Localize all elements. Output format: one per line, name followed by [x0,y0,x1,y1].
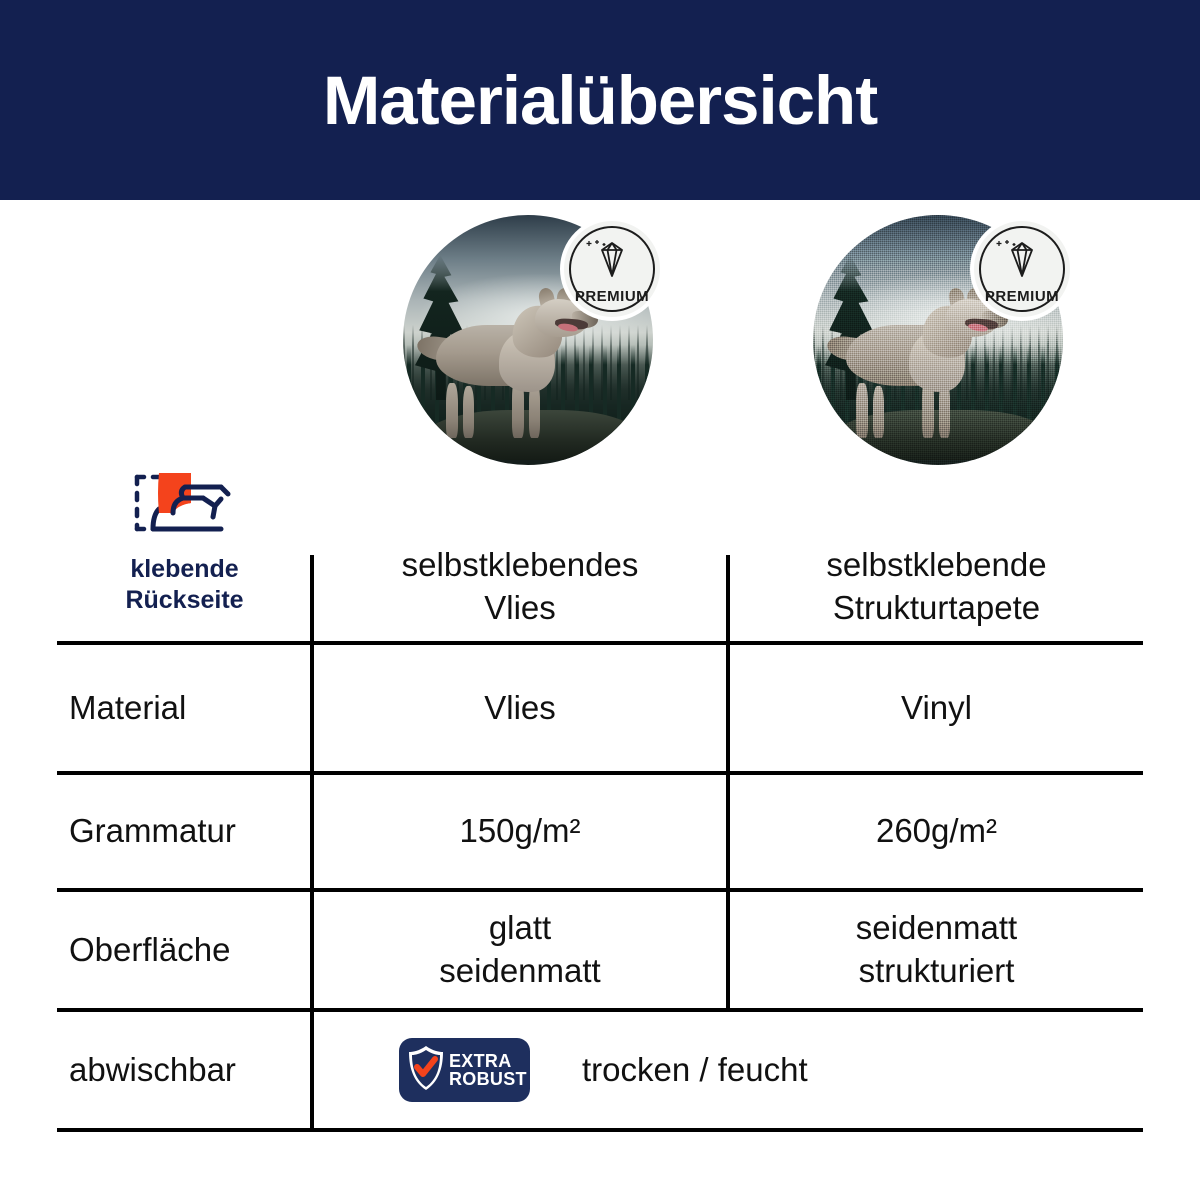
page-header: Materialübersicht [0,0,1200,200]
premium-badge: PREMIUM [970,217,1074,321]
wolf-leg [856,383,868,438]
cell-abwischbar-value: EXTRA ROBUST trocken / feucht [399,1012,808,1128]
oberflaeche-p2-line2: strukturiert [859,950,1015,993]
cell-grammatur-product2: 260g/m² [730,775,1143,888]
oberflaeche-p1-line2: seidenmatt [439,950,600,993]
product2-name-line1: selbstklebende [826,544,1046,587]
premium-badge: PREMIUM [560,217,664,321]
row-label-material: Material [57,645,310,771]
cell-grammatur-product1: 150g/m² [314,775,726,888]
cell-material-product2: Vinyl [730,645,1143,771]
diamond-icon [584,239,640,286]
product1-name-line1: selbstklebendes [402,544,639,587]
adhesive-caption-line2: Rückseite [125,585,243,616]
cell-oberflaeche-product2: seidenmatt strukturiert [730,892,1143,1008]
cell-product1-name: selbstklebendes Vlies [314,535,726,639]
diamond-icon [994,239,1050,286]
page-title: Materialübersicht [323,66,877,135]
adhesive-caption-line1: klebende [125,554,243,585]
extra-robust-line2: ROBUST [449,1070,527,1088]
product-images-row: PREMIUM [0,205,1200,475]
premium-label: PREMIUM [985,288,1059,305]
product1-name-line2: Vlies [484,587,556,630]
wolf-figure [843,288,1008,433]
cell-product2-name: selbstklebende Strukturtapete [730,535,1143,639]
adhesive-back-icon [129,465,241,548]
row-label-abwischbar: abwischbar [57,1012,310,1128]
product-preview-strukturtapete[interactable]: PREMIUM [808,205,1068,475]
wolf-figure [433,288,598,433]
shield-check-icon [405,1043,447,1098]
product-preview-vlies[interactable]: PREMIUM [398,205,658,475]
wolf-leg [873,386,885,438]
material-comparison-table: klebende Rückseite selbstklebendes Vlies… [57,475,1143,1132]
extra-robust-text: EXTRA ROBUST [449,1052,527,1089]
cell-material-product1: Vlies [314,645,726,771]
adhesive-back-caption: klebende Rückseite [125,554,243,615]
extra-robust-badge: EXTRA ROBUST [399,1038,530,1102]
row-label-grammatur: Grammatur [57,775,310,888]
row-label-oberflaeche: Oberfläche [57,892,310,1008]
abwischbar-value-text: trocken / feucht [582,1051,808,1089]
wolf-leg [446,383,458,438]
oberflaeche-p2-line1: seidenmatt [856,907,1017,950]
oberflaeche-p1-line1: glatt [489,907,551,950]
adhesive-back-feature: klebende Rückseite [57,465,312,615]
extra-robust-line1: EXTRA [449,1052,527,1070]
premium-label: PREMIUM [575,288,649,305]
table-divider-bottom [57,1128,1143,1132]
product2-name-line2: Strukturtapete [833,587,1040,630]
cell-oberflaeche-product1: glatt seidenmatt [314,892,726,1008]
wolf-leg [463,386,475,438]
